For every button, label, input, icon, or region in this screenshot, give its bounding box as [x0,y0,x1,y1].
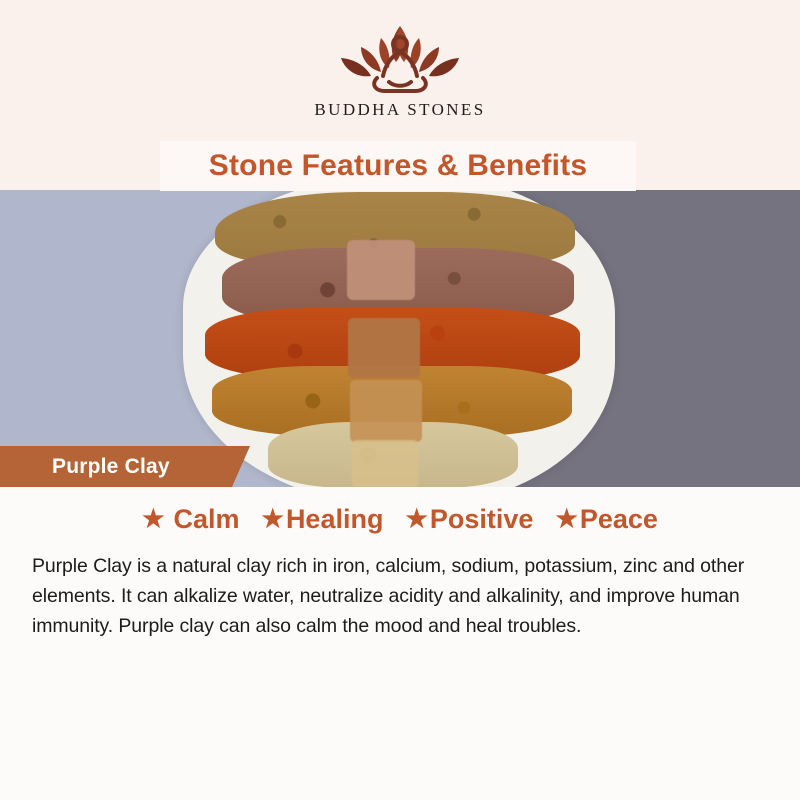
benefit-label: Peace [580,504,658,535]
benefit-item-calm: ★ Calm [142,504,239,535]
benefit-label: Positive [430,504,534,535]
clay-swatch-middle [348,318,420,378]
benefit-item-healing: ★ Healing [262,504,384,535]
benefit-label: Healing [286,504,384,535]
star-icon: ★ [262,507,284,532]
clay-swatch-lower [350,380,422,442]
description-text: Purple Clay is a natural clay rich in ir… [32,551,772,642]
star-icon: ★ [142,507,164,532]
clay-swatch-top [347,240,415,300]
star-icon: ★ [405,507,427,532]
brand-name: BUDDHA STONES [314,100,485,120]
brand-header: BUDDHA STONES [0,0,800,145]
stone-name-banner: Purple Clay [0,446,250,487]
benefits-row: ★ Calm ★ Healing ★ Positive ★ Peace [0,487,800,535]
clay-swatch-pale [352,440,418,487]
title-plate: Stone Features & Benefits [160,141,636,191]
benefit-item-positive: ★ Positive [405,504,533,535]
lotus-meditation-icon [325,18,475,96]
benefit-label: Calm [173,504,239,535]
page-title: Stone Features & Benefits [209,149,587,183]
stone-name-label: Purple Clay [52,455,170,479]
product-image [0,190,800,487]
benefit-item-peace: ★ Peace [555,504,658,535]
content-section: ★ Calm ★ Healing ★ Positive ★ Peace Purp… [0,487,800,800]
star-icon: ★ [555,507,577,532]
product-feature-card: BUDDHA STONES Stone Features & Benefits … [0,0,800,800]
